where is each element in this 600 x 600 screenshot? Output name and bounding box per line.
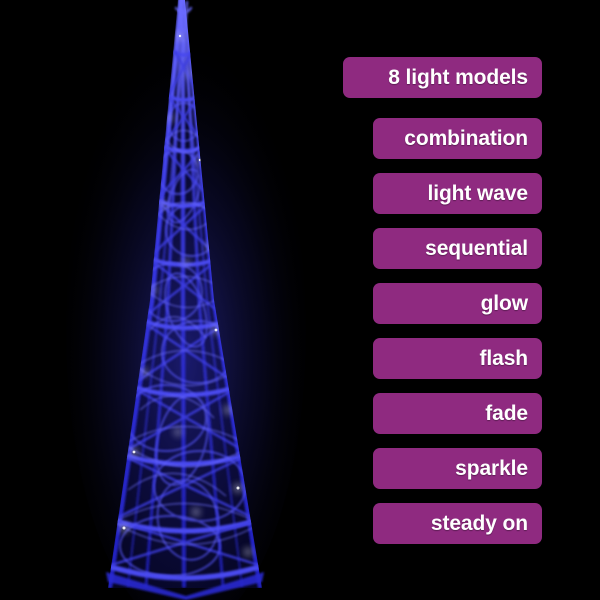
feature-pill-steady-on: steady on — [373, 503, 542, 544]
product-feature-graphic: 8 light models combination light wave se… — [0, 0, 600, 600]
feature-pill-light-wave: light wave — [373, 173, 542, 214]
feature-pill-combination: combination — [373, 118, 542, 159]
feature-label: light wave — [427, 183, 528, 204]
feature-label: sequential — [425, 238, 528, 259]
feature-pill-8-light-models: 8 light models — [343, 57, 542, 98]
feature-label: steady on — [431, 513, 528, 534]
product-photo — [0, 0, 340, 600]
feature-pill-sequential: sequential — [373, 228, 542, 269]
feature-list: 8 light models combination light wave se… — [330, 0, 600, 600]
feature-label: 8 light models — [388, 67, 528, 88]
feature-pill-flash: flash — [373, 338, 542, 379]
feature-label: sparkle — [455, 458, 528, 479]
feature-label: fade — [485, 403, 528, 424]
feature-label: combination — [404, 128, 528, 149]
feature-label: flash — [479, 348, 528, 369]
feature-label: glow — [481, 293, 528, 314]
feature-pill-fade: fade — [373, 393, 542, 434]
feature-pill-glow: glow — [373, 283, 542, 324]
feature-pill-sparkle: sparkle — [373, 448, 542, 489]
acrylic-light-cone-illustration — [0, 0, 340, 600]
